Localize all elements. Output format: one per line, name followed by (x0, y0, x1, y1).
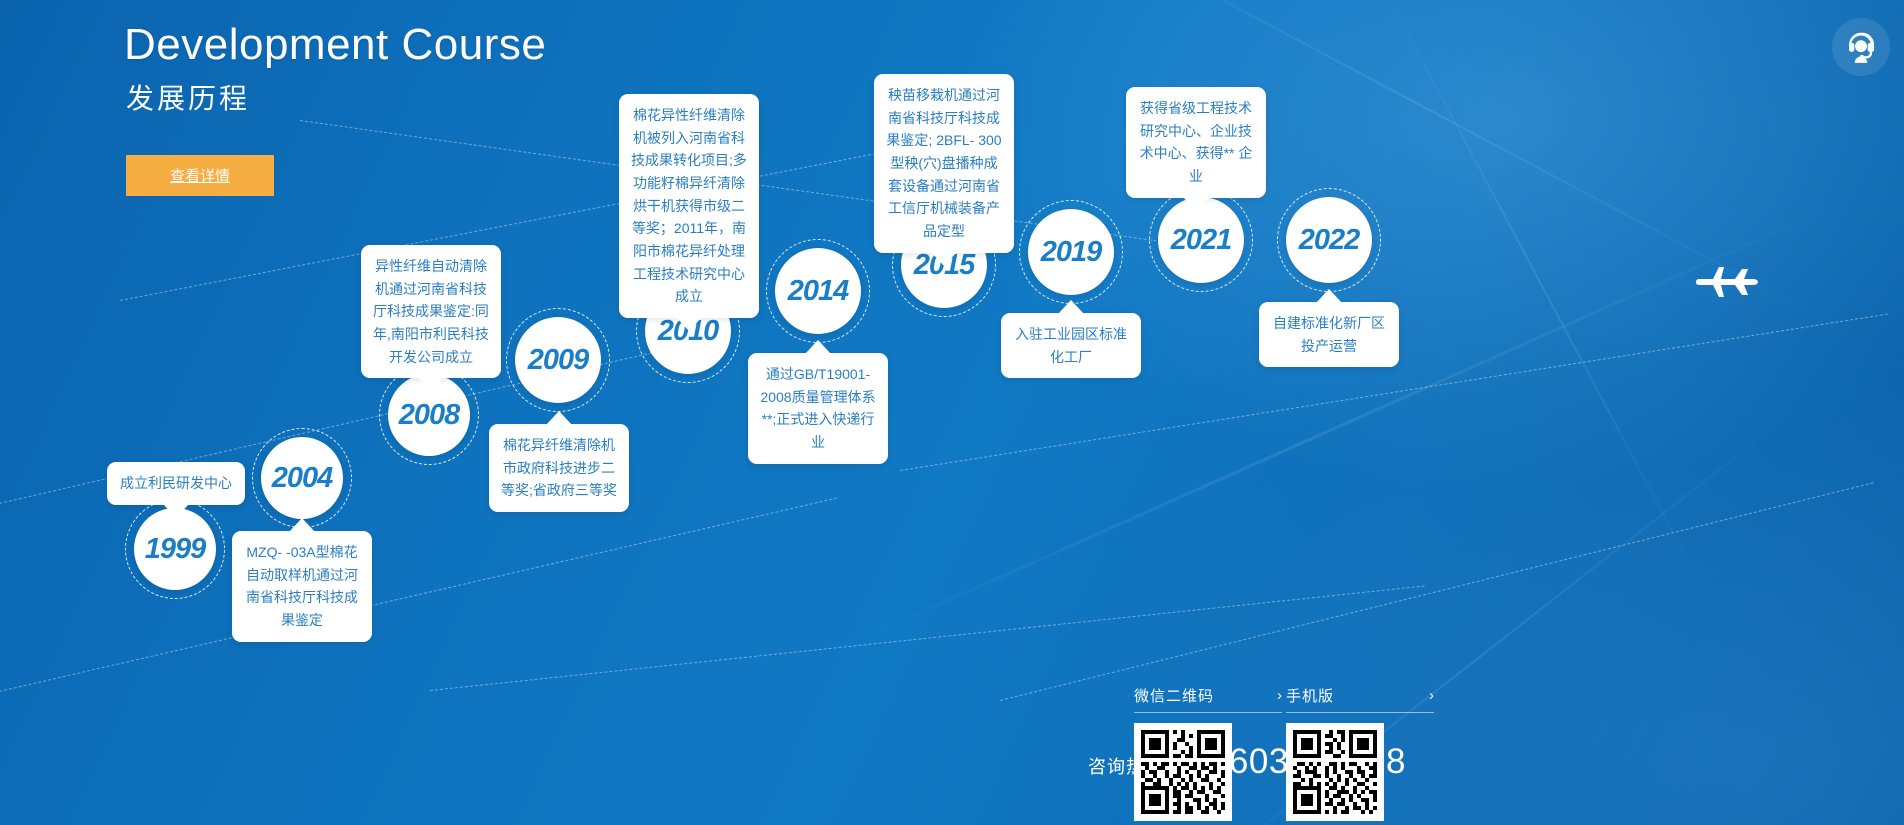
timeline-year-label: 2014 (788, 275, 849, 308)
page-title-cn: 发展历程 (126, 77, 250, 117)
timeline-card-2021[interactable]: 获得省级工程技术研究中心、企业技术中心、获得** 企业 (1126, 87, 1266, 198)
timeline-year-label: 1999 (145, 533, 206, 566)
timeline-card-2015[interactable]: 秧苗移栽机通过河南省科技厅科技成果鉴定; 2BFL- 300型秧(穴)盘播种成套… (874, 74, 1014, 253)
timeline-node-2022[interactable]: 2022 (1286, 197, 1372, 283)
timeline-card-2022[interactable]: 自建标准化新厂区投产运营 (1259, 302, 1399, 367)
qr-code-image (1134, 723, 1232, 821)
timeline-card-text: 通过GB/T19001-2008质量管理体系**;正式进入快递行业 (760, 366, 875, 450)
qr-block-wechat[interactable]: 微信二维码 › (1134, 685, 1282, 821)
card-pointer (289, 518, 315, 532)
timeline-node-2009[interactable]: 2009 (515, 317, 601, 403)
timeline-node-2019[interactable]: 2019 (1028, 209, 1114, 295)
card-pointer (931, 252, 957, 266)
timeline-node-2004[interactable]: 2004 (261, 437, 343, 519)
timeline-card-text: 秧苗移栽机通过河南省科技厅科技成果鉴定; 2BFL- 300型秧(穴)盘播种成套… (886, 87, 1001, 239)
qr-code-image (1286, 723, 1384, 821)
qr-header[interactable]: 微信二维码 › (1134, 685, 1282, 713)
timeline-card-1999[interactable]: 成立利民研发中心 (107, 462, 245, 505)
timeline-year-label: 2004 (272, 462, 333, 495)
page-title-en: Development Course (124, 20, 546, 70)
timeline-card-text: 获得省级工程技术研究中心、企业技术中心、获得** 企业 (1140, 100, 1253, 184)
view-details-button[interactable]: 查看详情 (126, 155, 274, 196)
timeline-card-2009[interactable]: 棉花异纤维清除机市政府科技进步二等奖;省政府三等奖 (489, 424, 629, 512)
route-line (0, 498, 837, 701)
timeline-year-label: 2008 (399, 399, 460, 432)
route-line (430, 585, 1425, 691)
qr-block-mobile[interactable]: 手机版 › (1286, 685, 1434, 821)
airplane-icon (1694, 255, 1758, 309)
light-streak (1385, 0, 1715, 611)
card-pointer (805, 340, 831, 354)
timeline-card-text: 异性纤维自动清除机通过河南省科技厅科技成果鉴定:同年,南阳市利民科技开发公司成立 (373, 258, 489, 365)
card-pointer (1316, 289, 1342, 303)
chevron-right-icon: › (1429, 687, 1434, 704)
timeline-card-2008[interactable]: 异性纤维自动清除机通过河南省科技厅科技成果鉴定:同年,南阳市利民科技开发公司成立 (361, 245, 501, 378)
headset-customer-service-icon (1842, 28, 1880, 66)
timeline-card-2014[interactable]: 通过GB/T19001-2008质量管理体系**;正式进入快递行业 (748, 353, 888, 464)
timeline-node-1999[interactable]: 1999 (134, 508, 216, 590)
timeline-year-label: 2022 (1299, 224, 1360, 257)
timeline-card-text: 入驻工业园区标准化工厂 (1015, 326, 1127, 365)
timeline-node-2014[interactable]: 2014 (775, 248, 861, 334)
card-pointer (546, 411, 572, 425)
customer-service-button[interactable] (1832, 18, 1890, 76)
timeline-card-2010[interactable]: 棉花异性纤维清除机被列入河南省科技成果转化项目;多功能籽棉异纤清除烘干机获得市级… (619, 94, 759, 318)
timeline-card-text: 自建标准化新厂区投产运营 (1273, 315, 1385, 354)
page-root: Development Course 发展历程 查看详情 1999 成立利民研发… (0, 0, 1904, 825)
timeline-card-text: MZQ- -03A型棉花自动取样机通过河南省科技厅科技成果鉴定 (246, 544, 358, 628)
view-details-label: 查看详情 (170, 165, 230, 186)
card-pointer (418, 377, 444, 391)
route-line (1000, 482, 1874, 701)
qr-label: 手机版 (1286, 685, 1334, 706)
card-pointer (1183, 197, 1209, 211)
card-pointer (163, 504, 189, 518)
timeline-year-label: 2019 (1041, 236, 1102, 269)
timeline-year-label: 2009 (528, 344, 589, 377)
timeline-card-text: 成立利民研发中心 (120, 475, 232, 491)
chevron-right-icon: › (1277, 687, 1282, 704)
timeline-card-2004[interactable]: MZQ- -03A型棉花自动取样机通过河南省科技厅科技成果鉴定 (232, 531, 372, 642)
qr-label: 微信二维码 (1134, 685, 1214, 706)
timeline-card-text: 棉花异纤维清除机市政府科技进步二等奖;省政府三等奖 (501, 437, 617, 498)
timeline-year-label: 2021 (1171, 224, 1232, 257)
qr-header[interactable]: 手机版 › (1286, 685, 1434, 713)
timeline-card-text: 棉花异性纤维清除机被列入河南省科技成果转化项目;多功能籽棉异纤清除烘干机获得市级… (631, 107, 747, 304)
card-pointer (676, 317, 702, 331)
card-pointer (1058, 300, 1084, 314)
timeline-card-2019[interactable]: 入驻工业园区标准化工厂 (1001, 313, 1141, 378)
